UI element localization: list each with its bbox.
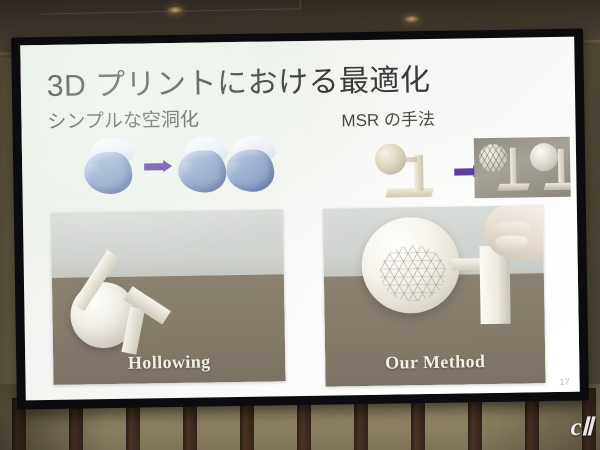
finger: [495, 235, 527, 249]
head-model: [226, 135, 279, 194]
stand-base: [385, 188, 433, 198]
stand-post: [510, 148, 517, 186]
head-model: [178, 136, 231, 195]
hollowing-result-panel: Hollowing: [51, 209, 286, 385]
hollowing-head-diagram: [84, 133, 275, 198]
right-arrow-icon: [454, 168, 474, 175]
projector-screen-frame: 3D プリントにおける最適化 シンプルな空洞化 MSR の手法: [11, 29, 589, 410]
slide-page-number: 17: [559, 377, 569, 387]
left-section-subtitle: シンプルな空洞化: [47, 105, 199, 134]
slide-title: 3D プリントにおける最適化: [46, 55, 430, 105]
stand-base: [543, 183, 570, 190]
conference-room-scene: 3D プリントにおける最適化 シンプルな空洞化 MSR の手法: [0, 0, 600, 450]
panel-background-upper: [51, 209, 284, 278]
stand-post: [558, 149, 565, 183]
cnet-watermark: cⅡ: [571, 412, 592, 442]
ceiling-downlight: [404, 16, 419, 23]
panel-caption-hollowing: Hollowing: [53, 350, 285, 375]
msr-result-photo: [474, 137, 571, 199]
head-nose: [228, 162, 241, 172]
sphere-on-stand-model: [374, 141, 449, 200]
our-method-result-panel: Our Method: [323, 205, 546, 386]
msr-method-diagram: [374, 137, 571, 204]
internal-lattice-structure: [379, 245, 446, 302]
head-nose: [86, 164, 99, 174]
solid-sphere: [530, 143, 558, 171]
panel-caption-our-method: Our Method: [325, 350, 545, 374]
ceiling-downlight: [168, 7, 183, 14]
lattice-sphere: [479, 144, 507, 172]
sphere-model: [375, 143, 406, 174]
right-section-subtitle: MSR の手法: [341, 105, 435, 131]
projected-slide: 3D プリントにおける最適化 シンプルな空洞化 MSR の手法: [20, 37, 580, 401]
right-arrow-icon: [144, 163, 164, 170]
finger: [495, 221, 531, 236]
head-nose: [180, 163, 193, 173]
stand-base: [497, 183, 529, 191]
head-model: [84, 138, 137, 197]
